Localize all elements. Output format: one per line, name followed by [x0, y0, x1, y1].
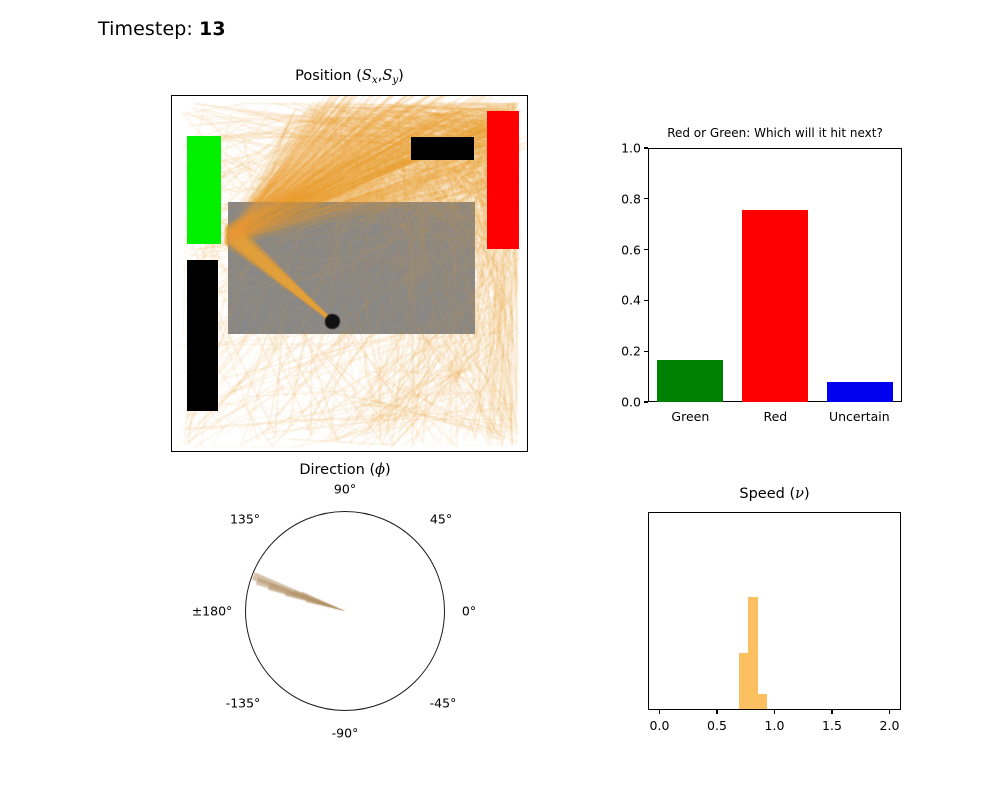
green-target-wall: [187, 136, 221, 244]
speed-title-prefix: Speed (: [739, 486, 795, 502]
prediction-ytick-1.0: 1.0: [607, 141, 641, 156]
prediction-ytick-mark: [644, 249, 648, 250]
speed-xtick-mark: [889, 710, 890, 714]
position-plot-panel: [171, 95, 528, 452]
speed-axes: [648, 512, 901, 710]
speed-xtick-mark: [774, 710, 775, 714]
polar-tick-135: 135°: [230, 512, 260, 527]
prediction-bar-uncertain: [827, 382, 893, 402]
polar-tick--90: -90°: [332, 726, 359, 741]
red-target-wall: [487, 111, 519, 249]
position-title-sy: S: [382, 68, 392, 84]
speed-xtick-1.5: 1.5: [822, 718, 842, 733]
speed-title-suffix: ): [804, 486, 810, 502]
polar-tick-90: 90°: [334, 482, 356, 497]
prediction-ytick-mark: [644, 351, 648, 352]
speed-xtick-0.5: 0.5: [707, 718, 727, 733]
speed-xtick-0.0: 0.0: [650, 718, 670, 733]
prediction-chart-panel: 0.00.20.40.60.81.0 GreenRedUncertain: [648, 148, 902, 402]
prediction-ytick-mark: [644, 401, 648, 402]
speed-xtick-mark: [831, 710, 832, 714]
speed-plot-title: Speed (ν): [648, 486, 901, 502]
speed-plot-panel: 0.00.51.01.52.0: [648, 512, 901, 710]
polar-tick--45: -45°: [430, 696, 457, 711]
timestep-header: Timestep: 13: [98, 18, 226, 40]
prediction-ytick-mark: [644, 300, 648, 301]
direction-title-symbol: ϕ: [375, 462, 385, 478]
prediction-ytick-0.2: 0.2: [607, 344, 641, 359]
prediction-xtick-green: Green: [648, 409, 733, 424]
prediction-ytick-0.8: 0.8: [607, 191, 641, 206]
polar-tick--135: -135°: [226, 696, 261, 711]
polar-tick-45: 45°: [430, 512, 452, 527]
black-wall-top: [411, 137, 474, 160]
speed-hist-bar-1: [748, 597, 758, 709]
black-wall-left: [187, 260, 218, 411]
prediction-bar-green: [657, 360, 723, 402]
speed-title-symbol: ν: [795, 486, 804, 502]
position-title-prefix: Position (: [295, 68, 362, 84]
position-title-sx: S: [362, 68, 372, 84]
prediction-xtick-uncertain: Uncertain: [817, 409, 902, 424]
prediction-ytick-mark: [644, 147, 648, 148]
prediction-ytick-0.6: 0.6: [607, 242, 641, 257]
polar-tick-180: ±180°: [192, 604, 233, 619]
direction-title-suffix: ): [385, 462, 391, 478]
direction-title-prefix: Direction (: [299, 462, 375, 478]
direction-arrows: [245, 511, 445, 711]
prediction-xtick-red: Red: [733, 409, 818, 424]
prediction-bar-red: [742, 210, 808, 402]
direction-plot-panel: [245, 511, 445, 711]
prediction-ytick-0.0: 0.0: [607, 395, 641, 410]
speed-xtick-2.0: 2.0: [880, 718, 900, 733]
prediction-ytick-mark: [644, 198, 648, 199]
prediction-chart-title: Red or Green: Which will it hit next?: [608, 126, 942, 140]
position-axes: [171, 95, 528, 452]
polar-tick-0: 0°: [462, 604, 476, 619]
prediction-ytick-0.4: 0.4: [607, 293, 641, 308]
timestep-label: Timestep:: [98, 18, 193, 40]
position-plot-title: Position (Sx,Sy): [171, 68, 528, 86]
speed-xtick-1.0: 1.0: [765, 718, 785, 733]
speed-xtick-mark: [659, 710, 660, 714]
agent-marker: [325, 314, 340, 329]
speed-xtick-mark: [716, 710, 717, 714]
direction-plot-title: Direction (ϕ): [245, 462, 445, 478]
timestep-value: 13: [199, 18, 226, 40]
position-title-suffix: ): [398, 68, 404, 84]
speed-hist-bar-2: [758, 694, 767, 709]
trajectory-samples-overlay: [172, 96, 528, 452]
speed-hist-bar-0: [739, 653, 748, 709]
